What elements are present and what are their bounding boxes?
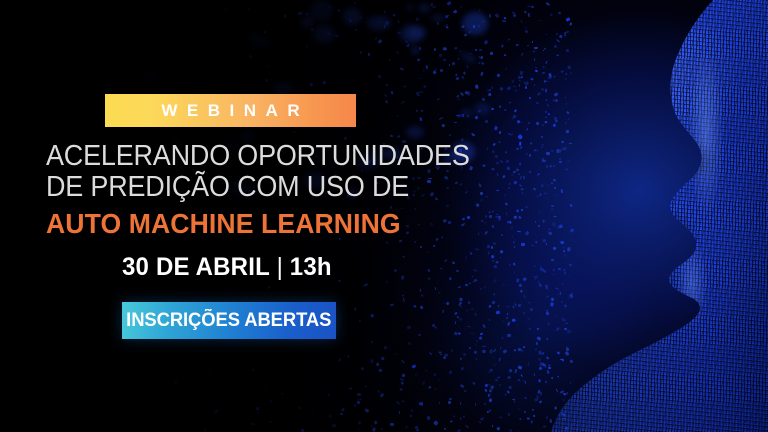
particle-head-artwork bbox=[430, 0, 768, 432]
webinar-poster: WEBINAR ACELERANDO OPORTUNIDADES DE PRED… bbox=[0, 0, 768, 432]
event-date: 30 DE ABRIL bbox=[122, 253, 270, 281]
event-separator: | bbox=[270, 253, 290, 281]
poster-content: WEBINAR ACELERANDO OPORTUNIDADES DE PRED… bbox=[0, 0, 420, 432]
cta-button-label: INSCRIÇÕES ABERTAS bbox=[126, 311, 331, 330]
webinar-badge: WEBINAR bbox=[105, 94, 356, 127]
head-rim-light bbox=[430, 0, 768, 432]
inscricoes-abertas-button[interactable]: INSCRIÇÕES ABERTAS bbox=[122, 302, 336, 339]
headline-line-2: DE PREDIÇÃO COM USO DE bbox=[46, 172, 392, 203]
event-time: 13h bbox=[290, 253, 332, 281]
webinar-badge-label: WEBINAR bbox=[152, 102, 309, 119]
event-datetime: 30 DE ABRIL|13h bbox=[122, 252, 332, 282]
page-title: ACELERANDO OPORTUNIDADES DE PREDIÇÃO COM… bbox=[46, 141, 418, 239]
headline-accent-line: AUTO MACHINE LEARNING bbox=[46, 209, 399, 239]
headline-line-1: ACELERANDO OPORTUNIDADES bbox=[46, 141, 392, 172]
